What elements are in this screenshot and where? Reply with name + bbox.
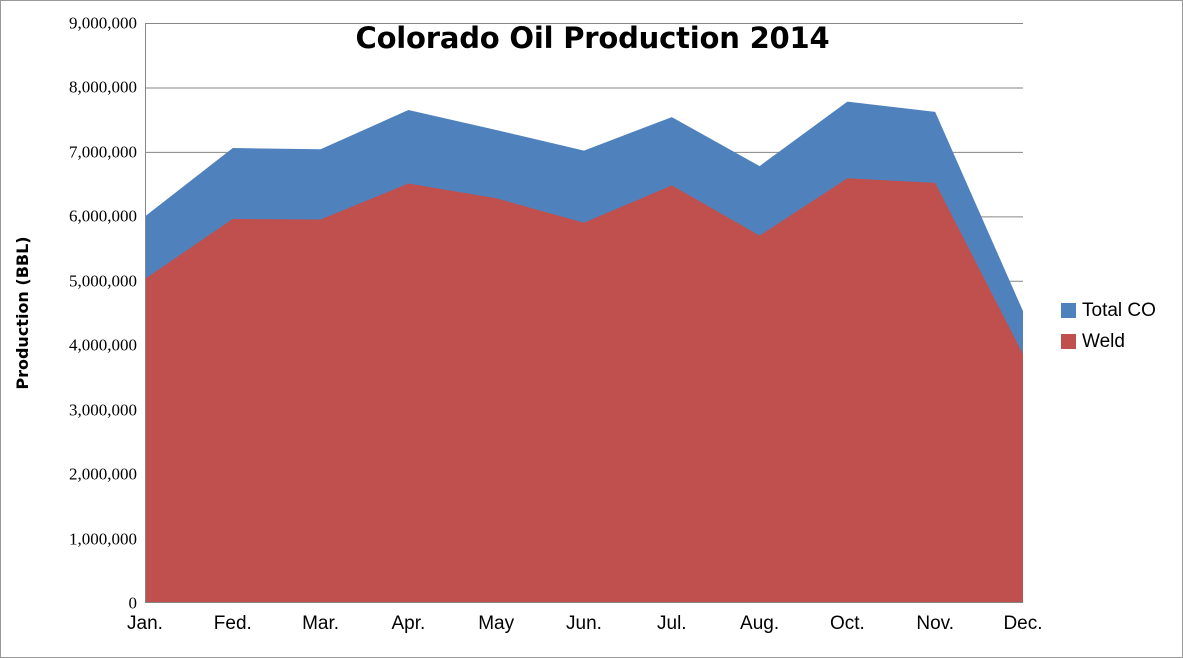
legend-item-total-co[interactable]: Total CO bbox=[1061, 295, 1181, 326]
y-tick-label: 8,000,000 bbox=[9, 79, 137, 96]
y-tick-label: 9,000,000 bbox=[9, 15, 137, 32]
series-areas bbox=[145, 102, 1023, 603]
series-area-weld bbox=[145, 178, 1023, 603]
y-tick-label: 0 bbox=[9, 595, 137, 612]
x-tick-label-dec: Dec. bbox=[963, 613, 1083, 636]
y-axis-tick-labels: 01,000,0002,000,0003,000,0004,000,0005,0… bbox=[1, 1, 137, 658]
x-axis-tick-labels: Jan.Fed.Mar.Apr.MayJun.Jul.Aug.Oct.Nov.D… bbox=[145, 613, 1023, 647]
legend-swatch-icon bbox=[1061, 303, 1076, 318]
y-tick-label: 3,000,000 bbox=[9, 401, 137, 418]
area-chart-svg bbox=[145, 23, 1023, 603]
legend-label: Weld bbox=[1082, 331, 1125, 353]
legend-label: Total CO bbox=[1082, 300, 1156, 322]
y-tick-label: 5,000,000 bbox=[9, 272, 137, 289]
chart-container: Colorado Oil Production 2014 Production … bbox=[0, 0, 1183, 658]
y-tick-label: 4,000,000 bbox=[9, 337, 137, 354]
y-tick-label: 6,000,000 bbox=[9, 208, 137, 225]
chart-legend: Total COWeld bbox=[1061, 295, 1181, 357]
y-tick-label: 1,000,000 bbox=[9, 530, 137, 547]
y-tick-label: 7,000,000 bbox=[9, 143, 137, 160]
legend-swatch-icon bbox=[1061, 334, 1076, 349]
plot-area bbox=[145, 23, 1023, 603]
y-tick-label: 2,000,000 bbox=[9, 466, 137, 483]
legend-item-weld[interactable]: Weld bbox=[1061, 326, 1181, 357]
